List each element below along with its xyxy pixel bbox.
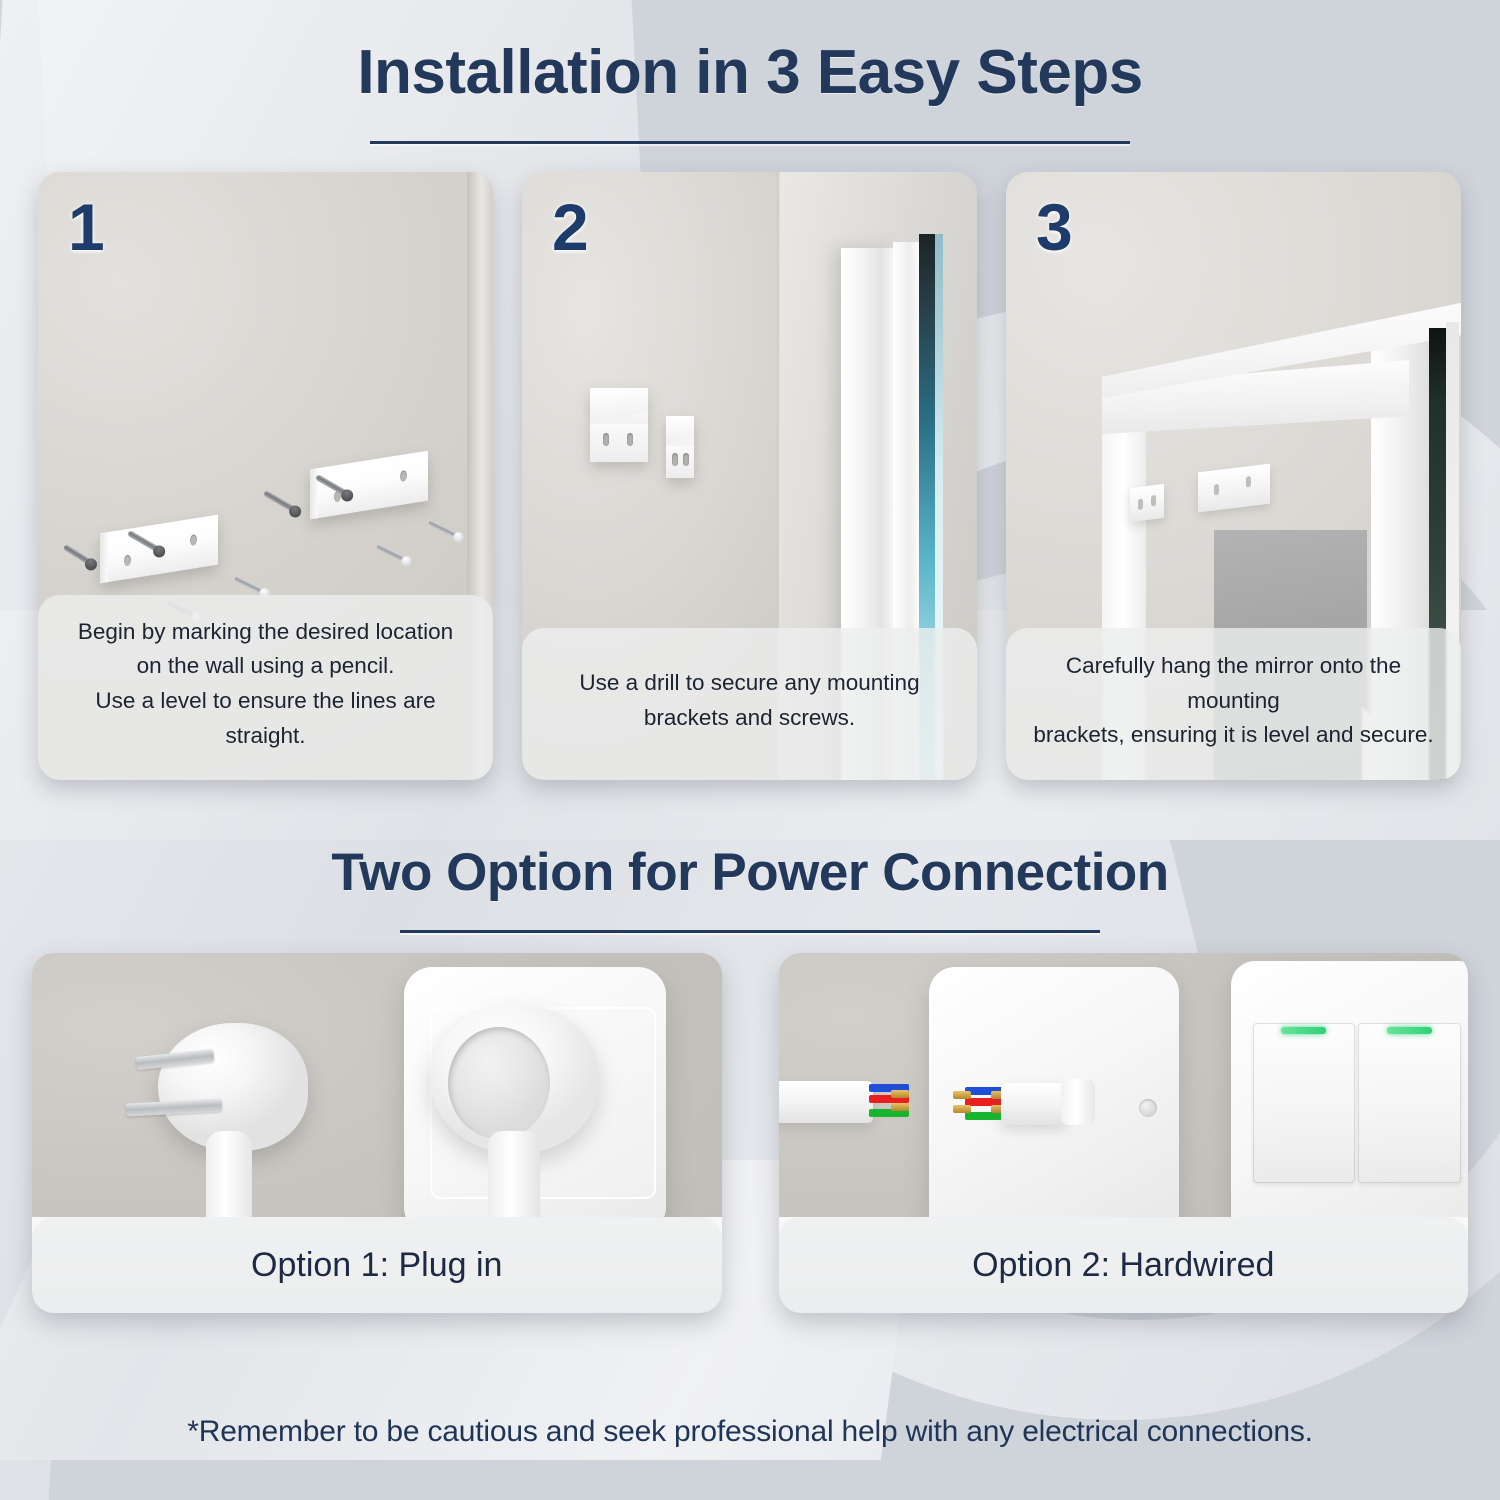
plate-cable-sleeve: [1001, 1083, 1067, 1125]
bracket-slot: [1214, 484, 1219, 496]
option-card-plug-in: Option 1: Plug in: [32, 953, 722, 1313]
step-card-1: 1 Begin by marking the desired location …: [38, 172, 493, 780]
plug-recess: [448, 1027, 550, 1139]
step-card-2: 2 Use a drill to secure any mounting bra…: [522, 172, 977, 780]
caption-line: on the wall using a pencil.: [64, 649, 467, 684]
caption-line: brackets, ensuring it is level and secur…: [1032, 718, 1435, 753]
wire-brass-terminal: [953, 1105, 971, 1113]
bracket-slot: [672, 453, 678, 466]
wire-brass-terminal: [953, 1091, 971, 1099]
bracket-screw-hole: [190, 534, 197, 546]
power-options-row: Option 1: Plug in: [32, 953, 1468, 1313]
switch-rocker-left[interactable]: [1253, 1023, 1356, 1183]
steps-row: 1 Begin by marking the desired location …: [38, 172, 1462, 780]
switch-rocker-right[interactable]: [1358, 1023, 1461, 1183]
wire-brass-terminal: [891, 1090, 909, 1098]
step-card-3: 3 Carefully hang the mirror onto the mou…: [1006, 172, 1461, 780]
switch-rockers: [1253, 1023, 1461, 1183]
section-title-power: Two Option for Power Connection: [0, 846, 1500, 899]
step-number-3: 3: [1036, 194, 1073, 260]
switch-indicator-led: [1281, 1027, 1326, 1034]
option-2-label: Option 2: Hardwired: [779, 1217, 1469, 1313]
caption-line: Carefully hang the mirror onto the mount…: [1032, 649, 1435, 719]
bracket-plate: [590, 424, 648, 462]
step-2-caption: Use a drill to secure any mounting brack…: [522, 628, 977, 780]
footnote: *Remember to be cautious and seek profes…: [0, 1415, 1500, 1449]
caption-line: Use a level to ensure the lines are stra…: [64, 684, 467, 754]
power-title-divider: [400, 930, 1100, 933]
hanging-bracket-left: [1130, 484, 1164, 522]
switch-indicator-led: [1387, 1027, 1432, 1034]
title-divider: [370, 141, 1130, 144]
hanging-bracket-right: [1198, 464, 1270, 513]
bracket-plate: [666, 446, 694, 478]
wire-brass-terminal: [891, 1103, 909, 1111]
mounted-bracket-left: [590, 388, 648, 462]
step-3-caption: Carefully hang the mirror onto the mount…: [1006, 628, 1461, 780]
caption-line: Begin by marking the desired location: [64, 615, 467, 650]
bracket-slot: [1151, 495, 1156, 507]
light-switch-plate: [1231, 961, 1469, 1261]
power-heading-block: Two Option for Power Connection: [0, 846, 1500, 933]
step-number-2: 2: [552, 194, 589, 260]
incoming-cable: [779, 1081, 873, 1123]
step-1-caption: Begin by marking the desired location on…: [38, 595, 493, 781]
bracket-slot: [603, 433, 609, 446]
bracket-screw-hole: [400, 470, 407, 482]
incoming-cable-wires: [869, 1081, 909, 1123]
power-plug: [144, 1023, 322, 1223]
bracket-slot: [627, 433, 633, 446]
plug-inserted: [430, 1005, 612, 1245]
option-1-label: Option 1: Plug in: [32, 1217, 722, 1313]
mounted-bracket-right: [666, 416, 694, 478]
bracket-screw-hole: [124, 554, 131, 566]
bracket-slot: [1138, 498, 1143, 510]
page-title: Installation in 3 Easy Steps: [0, 0, 1500, 104]
wire-green: [965, 1112, 1005, 1120]
bracket-slot: [1246, 476, 1251, 488]
bracket-lip: [100, 532, 108, 583]
plate-cable-wires: [965, 1085, 1005, 1127]
plate-screw: [1139, 1099, 1157, 1117]
option-card-hardwired: Option 2: Hardwired: [779, 953, 1469, 1313]
caption-line: brackets and screws.: [548, 701, 951, 736]
bracket-slot: [683, 453, 689, 466]
plate-cable-gland: [1061, 1079, 1095, 1125]
step-number-1: 1: [68, 194, 105, 260]
caption-line: Use a drill to secure any mounting: [548, 666, 951, 701]
installation-heading-block: Installation in 3 Easy Steps: [0, 0, 1500, 144]
